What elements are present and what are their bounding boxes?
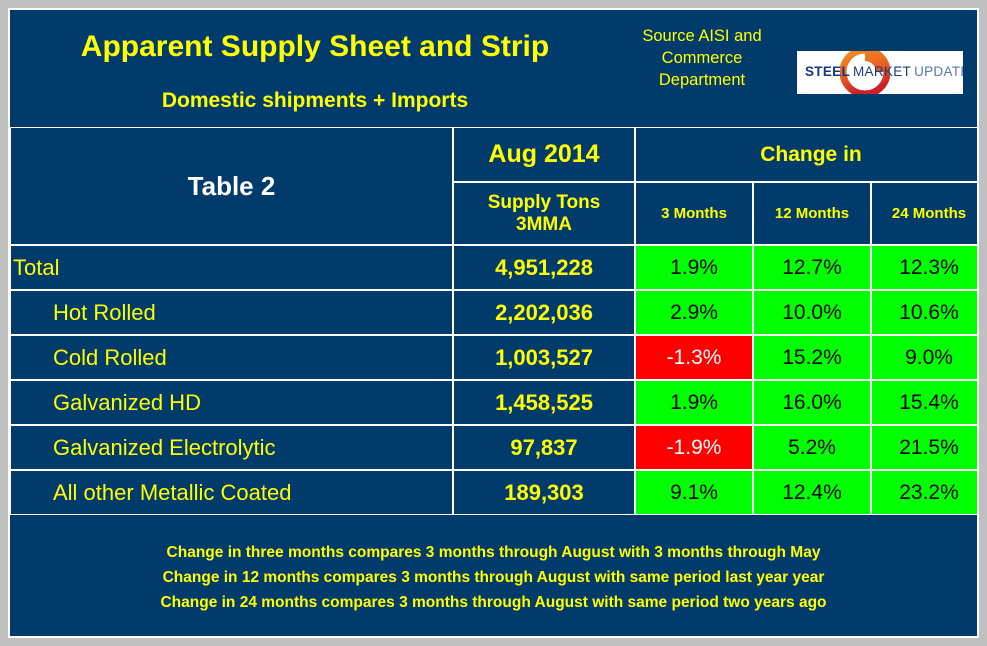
column-header-12-months: 12 Months	[753, 182, 871, 245]
page-subtitle: Domestic shipments + Imports	[10, 89, 620, 113]
footnote-line: Change in 24 months compares 3 months th…	[10, 590, 977, 615]
data-table: Table 2 Aug 2014 Change in Supply Tons 3…	[10, 127, 977, 528]
logo-word-steel: STEEL	[805, 64, 850, 79]
cell-change-24-months: 12.3%	[871, 245, 979, 290]
table-row: Hot Rolled2,202,0362.9%10.0%10.6%	[10, 290, 979, 335]
page-title: Apparent Supply Sheet and Strip	[10, 30, 620, 64]
column-group-period: Aug 2014	[453, 127, 635, 182]
footnotes: Change in three months compares 3 months…	[10, 540, 977, 615]
column-header-supply-line1: Supply Tons	[488, 192, 601, 214]
row-label: All other Metallic Coated	[10, 470, 453, 515]
cell-change-3-months: -1.3%	[635, 335, 753, 380]
cell-change-12-months: 12.4%	[753, 470, 871, 515]
row-label: Galvanized HD	[10, 380, 453, 425]
table-row: Cold Rolled1,003,527-1.3%15.2%9.0%	[10, 335, 979, 380]
row-label: Galvanized Electrolytic	[10, 425, 453, 470]
table-row: All other Metallic Coated189,3039.1%12.4…	[10, 470, 979, 515]
cell-change-12-months: 5.2%	[753, 425, 871, 470]
source-note: Source AISI and Commerce Department	[622, 25, 782, 91]
cell-change-12-months: 12.7%	[753, 245, 871, 290]
row-label: Cold Rolled	[10, 335, 453, 380]
cell-change-3-months: 1.9%	[635, 380, 753, 425]
cell-change-3-months: 9.1%	[635, 470, 753, 515]
cell-change-3-months: 1.9%	[635, 245, 753, 290]
cell-change-24-months: 9.0%	[871, 335, 979, 380]
cell-supply-tons: 97,837	[453, 425, 635, 470]
title-band: Apparent Supply Sheet and Strip Domestic…	[10, 10, 977, 127]
slide-canvas: Apparent Supply Sheet and Strip Domestic…	[8, 8, 979, 638]
cell-change-3-months: 2.9%	[635, 290, 753, 335]
cell-supply-tons: 4,951,228	[453, 245, 635, 290]
column-header-supply-line2: 3MMA	[488, 214, 601, 236]
logo-word-update: UPDATE	[914, 64, 963, 79]
cell-change-24-months: 15.4%	[871, 380, 979, 425]
cell-supply-tons: 2,202,036	[453, 290, 635, 335]
title-text-wrap: Apparent Supply Sheet and Strip Domestic…	[10, 10, 620, 127]
cell-change-3-months: -1.9%	[635, 425, 753, 470]
logo-word-market: MARKET	[853, 64, 911, 79]
table-corner-label: Table 2	[10, 127, 453, 245]
column-header-24-months: 24 Months	[871, 182, 979, 245]
cell-supply-tons: 189,303	[453, 470, 635, 515]
row-label: Total	[10, 245, 453, 290]
cell-change-24-months: 21.5%	[871, 425, 979, 470]
cell-change-12-months: 16.0%	[753, 380, 871, 425]
cell-change-24-months: 10.6%	[871, 290, 979, 335]
column-header-supply-tons: Supply Tons 3MMA	[453, 182, 635, 245]
cell-supply-tons: 1,458,525	[453, 380, 635, 425]
table-row: Galvanized Electrolytic97,837-1.9%5.2%21…	[10, 425, 979, 470]
cell-change-12-months: 10.0%	[753, 290, 871, 335]
cell-change-12-months: 15.2%	[753, 335, 871, 380]
footnote-line: Change in three months compares 3 months…	[10, 540, 977, 565]
table-row: Total4,951,2281.9%12.7%12.3%	[10, 245, 979, 290]
cell-supply-tons: 1,003,527	[453, 335, 635, 380]
footnote-line: Change in 12 months compares 3 months th…	[10, 565, 977, 590]
steel-market-update-logo: STEELMARKETUPDATE	[797, 51, 963, 94]
row-label: Hot Rolled	[10, 290, 453, 335]
column-header-3-months: 3 Months	[635, 182, 753, 245]
cell-change-24-months: 23.2%	[871, 470, 979, 515]
column-group-change: Change in	[635, 127, 979, 182]
table-row: Galvanized HD1,458,5251.9%16.0%15.4%	[10, 380, 979, 425]
